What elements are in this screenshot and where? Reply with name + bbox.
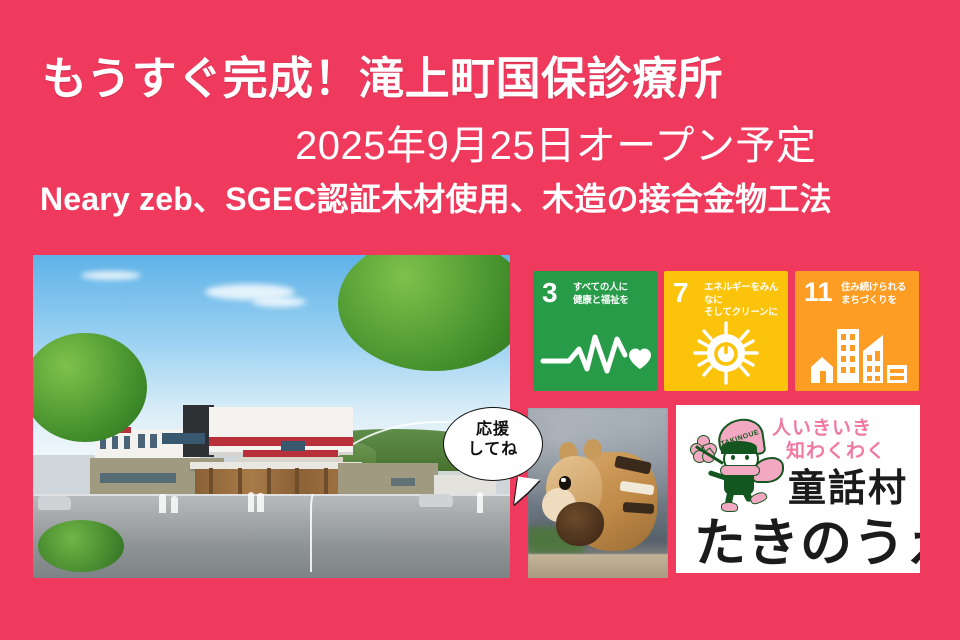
figure [171, 496, 178, 514]
figure [248, 492, 255, 511]
canopy-column [324, 468, 328, 494]
window-band [281, 441, 305, 451]
figure [159, 494, 166, 513]
sdg-tile-3[interactable]: 3 すべての人に 健康と福祉を [533, 271, 657, 391]
mascot-scarf [720, 465, 760, 476]
seed-in-paws [556, 502, 604, 546]
ecg-heart-icon [533, 321, 657, 385]
gravel-ground [528, 554, 668, 578]
clinic-rendering-photo [33, 255, 510, 578]
shrub [38, 520, 124, 572]
sdg-tile-7[interactable]: 7 エネルギーをみんなに そしてクリーンに [664, 271, 788, 391]
sdg-caption: 住み続けられる まちづくりを [841, 282, 914, 307]
speech-bubble-line2: してね [444, 440, 542, 460]
window-band [100, 473, 176, 483]
chipmunk-ear [584, 439, 602, 459]
figure [477, 492, 483, 513]
sdg-caption-line2: 健康と福祉を [573, 295, 652, 308]
town-logo[interactable]: TAKINOUE 人いきいき 知わくわく 童話村 たきのうえ [676, 405, 920, 573]
poster-canvas: もうすぐ完成！滝上町国保診療所 2025年9月25日オープン予定 Neary z… [0, 0, 960, 640]
chipmunk-photo [528, 408, 668, 578]
cloud [252, 297, 306, 307]
window [124, 436, 131, 449]
chipmunk-eye [559, 476, 572, 490]
parked-car [419, 494, 452, 507]
sdg-caption-line1: エネルギーをみんなに [704, 282, 783, 307]
mascot-eye [745, 455, 749, 460]
entrance-canopy [190, 462, 362, 470]
sdg-number: 3 [542, 279, 558, 307]
parked-car [38, 496, 71, 511]
logo-name-kana: たきのうえ [694, 501, 920, 573]
sdg-caption-line2: まちづくりを [841, 295, 914, 308]
window [150, 434, 157, 448]
opening-date-subtitle: 2025年9月25日オープン予定 [295, 124, 816, 168]
page-title: もうすぐ完成！滝上町国保診療所 [42, 54, 723, 104]
building-beige-wing-right [338, 463, 438, 494]
figure [257, 493, 264, 511]
sdg-caption: エネルギーをみんなに そしてクリーンに [704, 282, 783, 320]
canopy-column [295, 468, 299, 494]
window-band [162, 433, 205, 444]
features-subtitle: Neary zeb、SGEC認証木材使用、木造の接合金物工法 [40, 182, 832, 217]
sdg-tile-11[interactable]: 11 住み続けられる まちづくりを [795, 271, 919, 391]
sdg-caption-line1: 住み続けられる [841, 282, 914, 295]
sdg-caption: すべての人に 健康と福祉を [573, 282, 652, 307]
canopy-column [209, 468, 213, 494]
mascot-eye [731, 455, 735, 460]
sdg-caption-line1: すべての人に [573, 282, 652, 295]
sdg-number: 11 [804, 279, 833, 306]
window [112, 436, 119, 449]
mascot-hair [721, 441, 757, 454]
sun-power-icon [664, 321, 788, 385]
canopy-column [267, 468, 271, 494]
speech-bubble: 応援 してね [443, 407, 543, 481]
speech-bubble-line1: 応援 [444, 420, 542, 440]
sdg-number: 7 [673, 279, 689, 307]
speech-bubble-tail [514, 477, 540, 508]
buildings-icon [795, 321, 919, 385]
sdg-caption-line2: そしてクリーンに [704, 307, 783, 320]
speech-bubble-text: 応援 してね [444, 420, 542, 461]
canopy-column [238, 468, 242, 494]
window [138, 434, 145, 448]
window-band [391, 478, 415, 486]
